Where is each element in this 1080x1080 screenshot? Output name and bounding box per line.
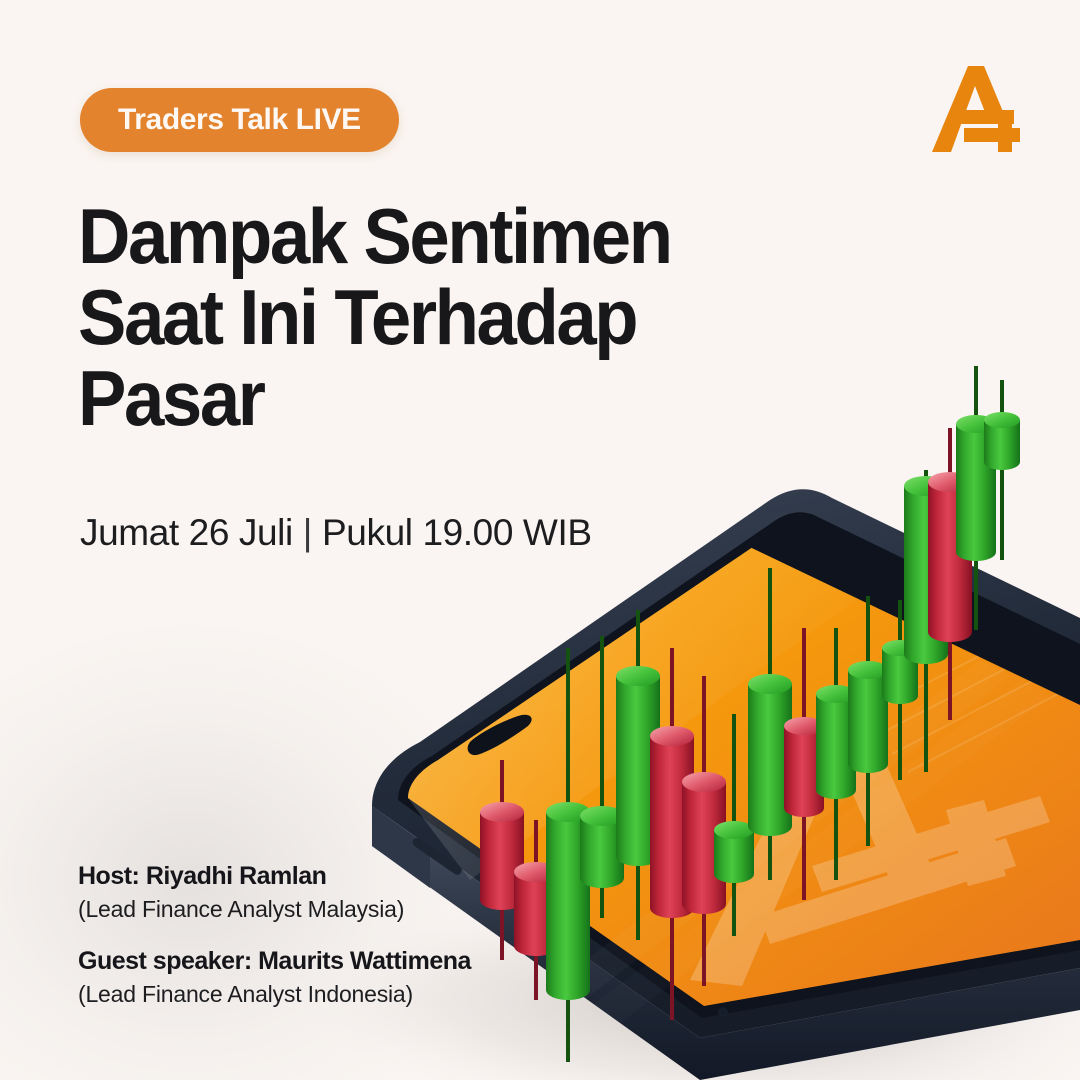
guest-credit: Guest speaker: Maurits Wattimena (Lead F…: [78, 947, 471, 1008]
headline-line-1: Dampak Sentimen: [78, 196, 785, 277]
candle-5: [616, 610, 660, 940]
live-badge: Traders Talk LIVE: [80, 88, 399, 152]
candle-17: [984, 380, 1020, 560]
candle-6: [650, 648, 694, 1020]
guest-role: (Lead Finance Analyst Indonesia): [78, 981, 471, 1008]
host-role: (Lead Finance Analyst Malaysia): [78, 896, 471, 923]
candlestick-series: [480, 366, 1020, 1062]
headline-line-3: Pasar: [78, 358, 785, 439]
datetime-separator: |: [303, 512, 312, 554]
smartphone-illustration: [372, 489, 1080, 1080]
host-name: Host: Riyadhi Ramlan: [78, 862, 471, 891]
live-badge-label: Traders Talk LIVE: [118, 103, 361, 137]
candle-13: [882, 600, 918, 780]
headline-line-2: Saat Ini Terhadap: [78, 277, 785, 358]
candle-1: [480, 760, 524, 960]
candle-15: [928, 428, 972, 720]
candle-3: [546, 648, 590, 1062]
candle-11: [816, 628, 856, 880]
candle-16: [956, 366, 996, 630]
candle-2: [514, 820, 558, 1000]
poster-canvas: Traders Talk LIVE Dampak Sentimen Saat I…: [0, 0, 1080, 1080]
candle-12: [848, 596, 888, 846]
candle-9: [748, 568, 792, 880]
guest-name: Guest speaker: Maurits Wattimena: [78, 947, 471, 976]
candle-4: [580, 636, 624, 918]
brand-a-logo: [920, 52, 1032, 164]
screen-logo-watermark: [690, 714, 1050, 986]
event-datetime: Jumat 26 Juli|Pukul 19.00 WIB: [80, 512, 592, 554]
candle-10: [784, 628, 824, 900]
event-date: Jumat 26 Juli: [80, 512, 293, 553]
candle-8: [714, 714, 754, 936]
event-time: Pukul 19.00 WIB: [322, 512, 592, 553]
speaker-credits: Host: Riyadhi Ramlan (Lead Finance Analy…: [78, 862, 471, 1032]
host-credit: Host: Riyadhi Ramlan (Lead Finance Analy…: [78, 862, 471, 923]
page-title: Dampak Sentimen Saat Ini Terhadap Pasar: [78, 196, 785, 439]
phone-notch: [468, 715, 532, 755]
background-glow-right: [580, 740, 1080, 1080]
candle-14: [904, 470, 948, 772]
candle-7: [682, 676, 726, 986]
